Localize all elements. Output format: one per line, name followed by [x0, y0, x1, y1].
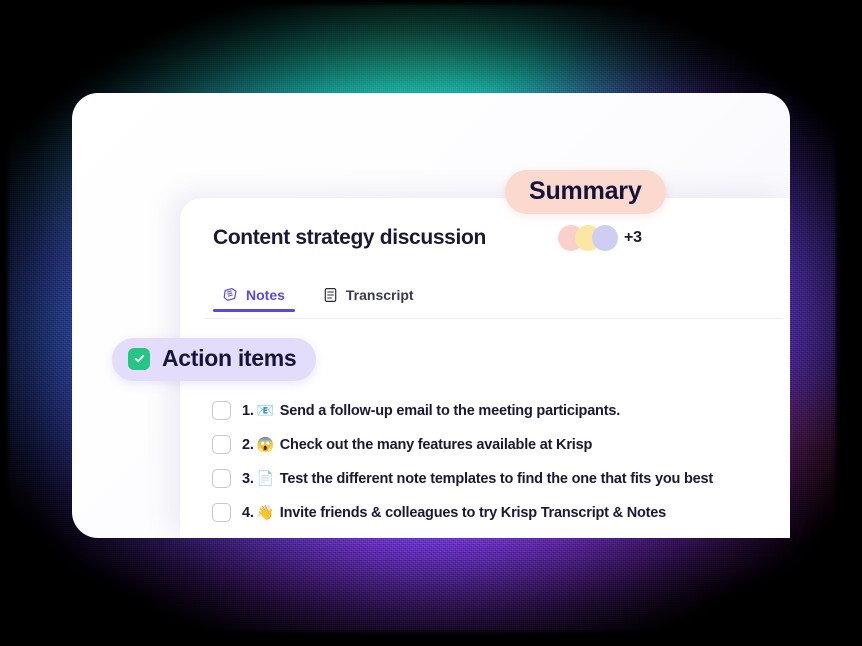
- tab-transcript-label: Transcript: [346, 287, 414, 303]
- task-label: Check out the many features available at…: [280, 437, 592, 453]
- action-items-heading-label: Action items: [162, 347, 296, 370]
- action-items-list: 1.📧 Send a follow-up email to the meetin…: [212, 393, 787, 529]
- list-item[interactable]: 3.📄 Test the different note templates to…: [212, 461, 787, 495]
- task-number: 3.: [242, 471, 254, 487]
- task-checkbox[interactable]: [212, 503, 231, 522]
- tab-notes-label: Notes: [246, 287, 285, 303]
- task-number: 4.: [242, 505, 254, 521]
- participant-overflow-count: +3: [624, 229, 642, 247]
- task-checkbox[interactable]: [212, 401, 231, 420]
- tab-notes[interactable]: Notes: [213, 283, 295, 312]
- list-item[interactable]: 1.📧 Send a follow-up email to the meetin…: [212, 393, 787, 427]
- email-emoji: 📧: [257, 402, 274, 418]
- page-emoji: 📄: [257, 470, 274, 486]
- avatar-stack: [558, 225, 620, 251]
- list-item[interactable]: 4.👋 Invite friends & colleagues to try K…: [212, 495, 787, 529]
- tab-transcript[interactable]: Transcript: [313, 283, 424, 312]
- notes-transcript-tabs: Notes Transcript: [213, 283, 424, 312]
- task-checkbox[interactable]: [212, 469, 231, 488]
- transcript-icon: [323, 287, 338, 303]
- action-items-heading-pill: Action items: [112, 338, 316, 381]
- task-text: 2.😱 Check out the many features availabl…: [242, 436, 592, 453]
- task-text: 4.👋 Invite friends & colleagues to try K…: [242, 504, 666, 521]
- waving-hand-emoji: 👋: [257, 504, 274, 520]
- avatar: [592, 225, 618, 251]
- summary-badge[interactable]: Summary: [505, 170, 666, 214]
- task-label: Test the different note templates to fin…: [280, 471, 713, 487]
- astonished-face-emoji: 😱: [257, 436, 274, 452]
- task-label: Invite friends & colleagues to try Krisp…: [280, 505, 666, 521]
- meeting-title: Content strategy discussion: [213, 226, 486, 250]
- task-text: 1.📧 Send a follow-up email to the meetin…: [242, 402, 620, 419]
- tabs-divider: [205, 318, 783, 319]
- list-item[interactable]: 2.😱 Check out the many features availabl…: [212, 427, 787, 461]
- task-number: 2.: [242, 437, 254, 453]
- task-label: Send a follow-up email to the meeting pa…: [280, 403, 620, 419]
- checked-checkbox-icon: [128, 348, 150, 370]
- task-checkbox[interactable]: [212, 435, 231, 454]
- participant-avatars[interactable]: +3: [558, 225, 642, 251]
- notes-icon: [223, 287, 238, 303]
- screenshot-canvas: Summary Content strategy discussion +3 N…: [0, 0, 862, 646]
- task-number: 1.: [242, 403, 254, 419]
- task-text: 3.📄 Test the different note templates to…: [242, 470, 713, 487]
